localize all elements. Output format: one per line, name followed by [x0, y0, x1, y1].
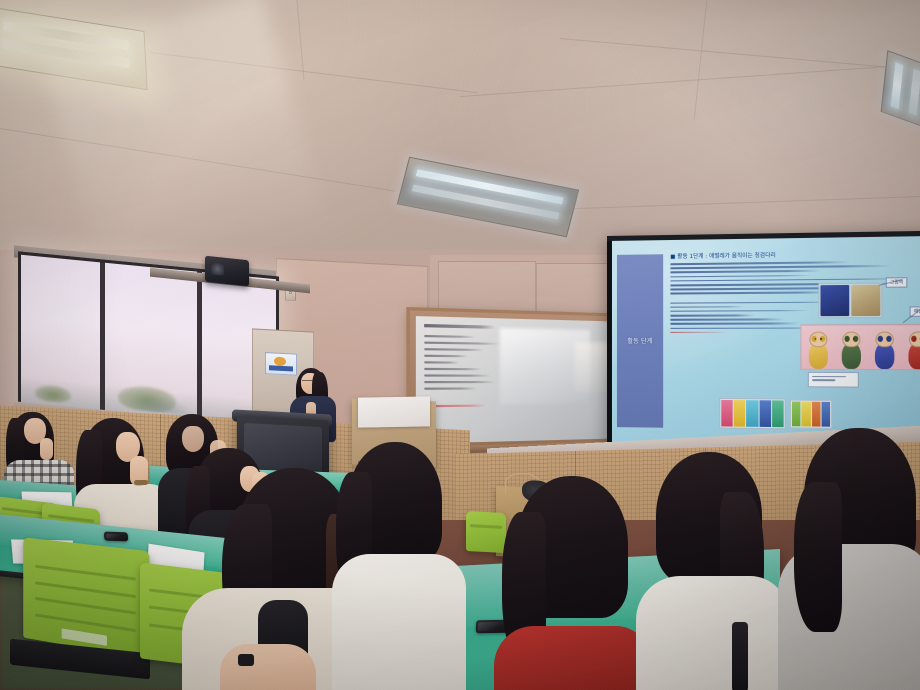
block-orange: [811, 402, 820, 427]
whiteboard-heading: [424, 324, 495, 329]
doll-eye: [853, 338, 855, 340]
papers-on-desk: [358, 396, 430, 427]
student-far-right-grey: [778, 428, 920, 690]
doll-eye: [847, 338, 849, 340]
block-yellow: [802, 402, 811, 427]
whiteboard-line: [424, 342, 499, 345]
window-mullion: [100, 262, 104, 418]
block-blue: [821, 402, 830, 427]
doll-yellow: [805, 332, 830, 369]
doll-red: [905, 331, 920, 369]
doll-green: [838, 332, 864, 369]
picture-book-cover-dark: [820, 285, 849, 316]
slide-text-line: [670, 301, 840, 304]
classroom-photo: B: [0, 0, 920, 690]
student-hair-side: [794, 482, 842, 632]
whiteboard-line: [424, 361, 459, 363]
student-torso: [332, 554, 466, 690]
student-hand: [40, 438, 53, 460]
chair[interactable]: [23, 537, 149, 659]
slide-text-line: [670, 292, 834, 295]
slide-text-line-red: [670, 332, 729, 334]
color-block-image-right: [790, 400, 832, 429]
whiteboard-line: [424, 381, 495, 383]
slide-sidebar: 활동 단계: [617, 254, 663, 427]
doll-photo-strip: [800, 324, 920, 370]
student-arm: [220, 644, 316, 690]
doll-head: [842, 332, 860, 348]
doll-eye: [880, 338, 882, 340]
slide-text-line: [670, 270, 822, 273]
caption-line: [812, 380, 835, 381]
window-mullion: [197, 272, 201, 428]
doll-head: [908, 331, 920, 347]
whiteboard-line: [424, 335, 475, 338]
student-right-white: [636, 452, 784, 690]
whiteboard-surface: [416, 316, 625, 444]
student-front-white: [332, 442, 462, 690]
block-green: [792, 402, 801, 427]
block-pink: [721, 400, 733, 427]
slide-text-line: [670, 278, 912, 282]
student-bracelet: [134, 480, 148, 485]
slide-text-line: [670, 319, 784, 321]
doll-head: [875, 332, 893, 348]
slide-text-line: [670, 323, 799, 325]
doll-eye: [914, 338, 916, 340]
projection-screen: 활동 단계 ■ 활동 1단계 : 애벌레가 움직이는 징검다리: [607, 231, 920, 455]
chair-label: [62, 629, 107, 646]
color-block-image-left: [719, 398, 785, 429]
whiteboard-handwriting: [424, 324, 513, 412]
chair-slat: [35, 613, 136, 632]
slide-text-line: [670, 261, 850, 265]
whiteboard-line: [424, 348, 484, 351]
block-cyan: [747, 400, 759, 427]
whiteboard-line: [424, 368, 482, 370]
doll-blue: [871, 332, 897, 370]
picture-book-cover-light: [851, 285, 880, 316]
whiteboard-line: [424, 355, 468, 358]
caption-line: [812, 376, 846, 378]
projector-lens: [211, 262, 224, 275]
wristwatch: [238, 654, 254, 666]
block-green: [772, 400, 784, 427]
slide-text-line: [670, 265, 891, 269]
chair-slat: [35, 581, 136, 598]
window-pane: [105, 263, 197, 428]
slide-text-line: [670, 314, 754, 316]
slide-sidebar-label: 활동 단계: [627, 336, 652, 345]
chair-slat: [35, 597, 136, 615]
block-blue: [759, 400, 771, 427]
bag-strap: [732, 622, 748, 690]
slide-text-line: [670, 310, 809, 312]
projector-icon: [205, 256, 249, 287]
slide-text-line: [670, 275, 812, 278]
student-torso: [494, 626, 650, 690]
window-pane: [21, 255, 100, 419]
slide-caption-box: [808, 372, 859, 388]
doll-eye: [820, 338, 822, 340]
presentation-slide: 활동 단계 ■ 활동 1단계 : 애벌레가 움직이는 징검다리: [612, 236, 920, 449]
doll-eye: [814, 338, 816, 340]
whiteboard-line: [424, 374, 491, 376]
sticker-band: [269, 365, 293, 371]
chair-slat: [35, 565, 136, 581]
picture-book-images: [818, 283, 882, 319]
whiteboard-line: [424, 387, 477, 389]
slide-text-line: [670, 306, 744, 308]
fluorescent-tube: [891, 62, 904, 109]
student-right-red: [498, 476, 648, 690]
fluorescent-tube: [909, 69, 920, 116]
doll-eye: [886, 338, 888, 340]
slide-body: ■ 활동 1단계 : 애벌레가 움직이는 징검다리: [670, 249, 920, 443]
doll-head: [809, 332, 827, 347]
smartphone[interactable]: [104, 532, 129, 542]
block-yellow: [734, 400, 746, 427]
student-torso: [636, 576, 788, 690]
